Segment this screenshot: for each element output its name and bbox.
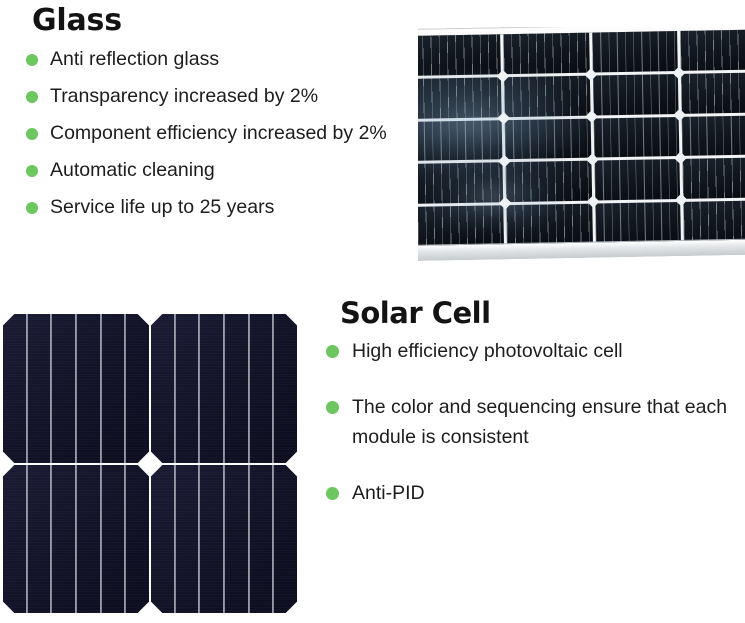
cell-chamfer	[286, 314, 297, 325]
cell-chamfer	[286, 465, 297, 476]
mono-cell	[151, 314, 297, 463]
list-item-label: Anti-PID	[352, 482, 425, 504]
bullet-dot-icon	[26, 128, 38, 140]
module-cell	[592, 74, 678, 115]
glass-feature-list: Anti reflection glass Transparency incre…	[22, 43, 422, 224]
module-cell	[683, 158, 745, 199]
cell-chamfer	[151, 314, 162, 325]
cell-chamfer	[138, 314, 149, 325]
list-item-label: The color and sequencing ensure that eac…	[352, 396, 727, 448]
module-glass-surface	[418, 29, 745, 246]
cell-chamfer	[151, 602, 162, 613]
module-cell	[683, 201, 745, 242]
cell-chamfer	[3, 465, 14, 476]
module-cell	[418, 120, 502, 161]
list-item: Transparency increased by 2%	[22, 80, 422, 113]
module-cell	[595, 202, 681, 243]
cell-chamfer	[3, 602, 14, 613]
cell-chamfer	[151, 465, 162, 476]
module-cell	[592, 31, 678, 72]
list-item-label: Service life up to 25 years	[50, 196, 274, 218]
bullet-dot-icon	[26, 91, 38, 103]
bullet-dot-icon	[26, 54, 38, 66]
module-cell	[682, 115, 745, 156]
list-item: Component efficiency increased by 2%	[22, 117, 422, 150]
list-item-label: Anti reflection glass	[50, 48, 219, 70]
bullet-dot-icon	[326, 487, 339, 500]
bullet-dot-icon	[26, 165, 38, 177]
module-frame	[418, 27, 745, 261]
module-cell	[594, 159, 680, 200]
list-item: Automatic cleaning	[22, 154, 422, 187]
list-item: Anti reflection glass	[22, 43, 422, 76]
module-cell	[505, 161, 591, 202]
cell-chamfer	[286, 602, 297, 613]
cell-chamfer	[3, 451, 14, 462]
solar-cell-heading: Solar Cell	[318, 298, 743, 330]
module-cell	[681, 72, 745, 113]
solar-module-photo	[418, 27, 745, 267]
cell-chamfer	[138, 451, 149, 462]
module-cell	[504, 75, 590, 116]
cell-chamfer	[3, 314, 14, 325]
bullet-dot-icon	[326, 401, 339, 414]
list-item-label: Automatic cleaning	[50, 159, 215, 181]
solar-cell-feature-list: High efficiency photovoltaic cell The co…	[318, 336, 743, 508]
feature-sheet-page: Glass Anti reflection glass Transparency…	[0, 0, 745, 623]
module-cell	[593, 117, 679, 158]
module-cell	[503, 33, 589, 74]
module-cell-grid	[418, 29, 745, 246]
mono-cell	[3, 465, 149, 614]
glass-section: Glass Anti reflection glass Transparency…	[22, 4, 422, 228]
list-item: Anti-PID	[318, 478, 743, 508]
mono-cell	[3, 314, 149, 463]
cell-chamfer	[138, 602, 149, 613]
solar-cells-photo	[3, 314, 297, 613]
cell-chamfer	[151, 451, 162, 462]
cell-busbars	[151, 314, 297, 463]
cell-chamfer	[138, 465, 149, 476]
cells-grid	[3, 314, 297, 613]
cell-busbars	[151, 465, 297, 614]
list-item-label: Component efficiency increased by 2%	[50, 122, 387, 144]
module-cell	[418, 163, 503, 204]
bullet-dot-icon	[26, 202, 38, 214]
solar-cell-section: Solar Cell High efficiency photovoltaic …	[318, 298, 743, 534]
module-cell	[418, 205, 504, 246]
bullet-dot-icon	[326, 345, 339, 358]
list-item: The color and sequencing ensure that eac…	[318, 392, 743, 452]
module-cell	[504, 118, 590, 159]
glass-heading: Glass	[22, 4, 422, 37]
mono-cell	[151, 465, 297, 614]
module-cell	[680, 29, 745, 70]
list-item-label: High efficiency photovoltaic cell	[352, 340, 623, 362]
module-cell	[418, 77, 501, 118]
cell-busbars	[3, 314, 149, 463]
module-cell	[506, 204, 592, 245]
list-item: Service life up to 25 years	[22, 191, 422, 224]
list-item-label: Transparency increased by 2%	[50, 85, 318, 107]
cell-busbars	[3, 465, 149, 614]
list-item: High efficiency photovoltaic cell	[318, 336, 743, 366]
cell-chamfer	[286, 451, 297, 462]
module-cell	[418, 34, 501, 75]
